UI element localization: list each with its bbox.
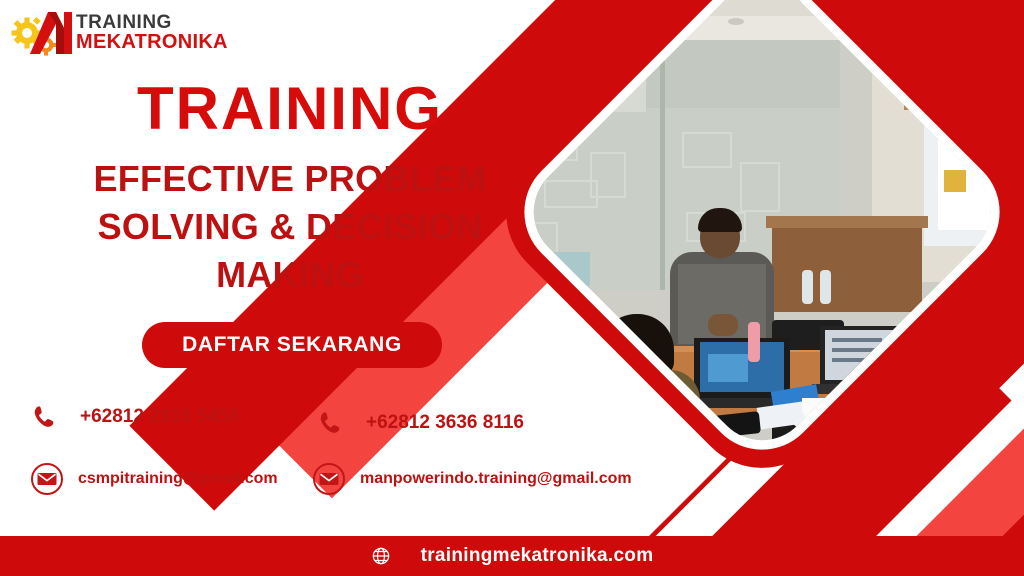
email-address-2: manpowerindo.training@gmail.com [360, 470, 632, 488]
envelope-icon [30, 462, 64, 496]
brand-logo[interactable]: TRAINING MEKATRONIKA [10, 6, 210, 62]
contact-phone-1[interactable]: +62812 2916 5456 [32, 402, 239, 432]
globe-icon [371, 546, 391, 566]
contact-phone-2[interactable]: +62812 3636 8116 [318, 408, 524, 438]
training-room-photo [513, 0, 1011, 461]
envelope-icon [312, 462, 346, 496]
footer-bar: trainingmekatronika.com [0, 536, 1024, 576]
phone-number-1: +62812 2916 5456 [80, 406, 239, 428]
photo-diamond-frame [476, 0, 1024, 498]
register-button[interactable]: DAFTAR SEKARANG [142, 322, 442, 368]
phone-number-2: +62812 3636 8116 [366, 412, 524, 434]
logo-line-mekatronika: MEKATRONIKA [76, 32, 228, 53]
photo-clip [513, 0, 1011, 461]
footer-content[interactable]: trainingmekatronika.com [371, 545, 654, 567]
contact-email-1[interactable]: csmpitraining@gmail.com [30, 462, 278, 496]
contact-email-2[interactable]: manpowerindo.training@gmail.com [312, 462, 632, 496]
website-url: trainingmekatronika.com [421, 545, 654, 567]
page-subtitle: EFFECTIVE PROBLEM SOLVING & DECISION MAK… [52, 155, 528, 299]
logo-line-training: TRAINING [76, 13, 228, 32]
phone-icon [32, 402, 58, 432]
phone-icon [318, 408, 344, 438]
promo-banner: TRAINING MEKATRONIKA TRAINING EFFECTIVE … [0, 0, 1024, 576]
photo-frame-inner [500, 0, 1023, 474]
page-title: TRAINING [60, 78, 520, 140]
gear-m-logo-icon [10, 6, 82, 58]
logo-wordmark: TRAINING MEKATRONIKA [76, 13, 228, 53]
email-address-1: csmpitraining@gmail.com [78, 470, 278, 488]
